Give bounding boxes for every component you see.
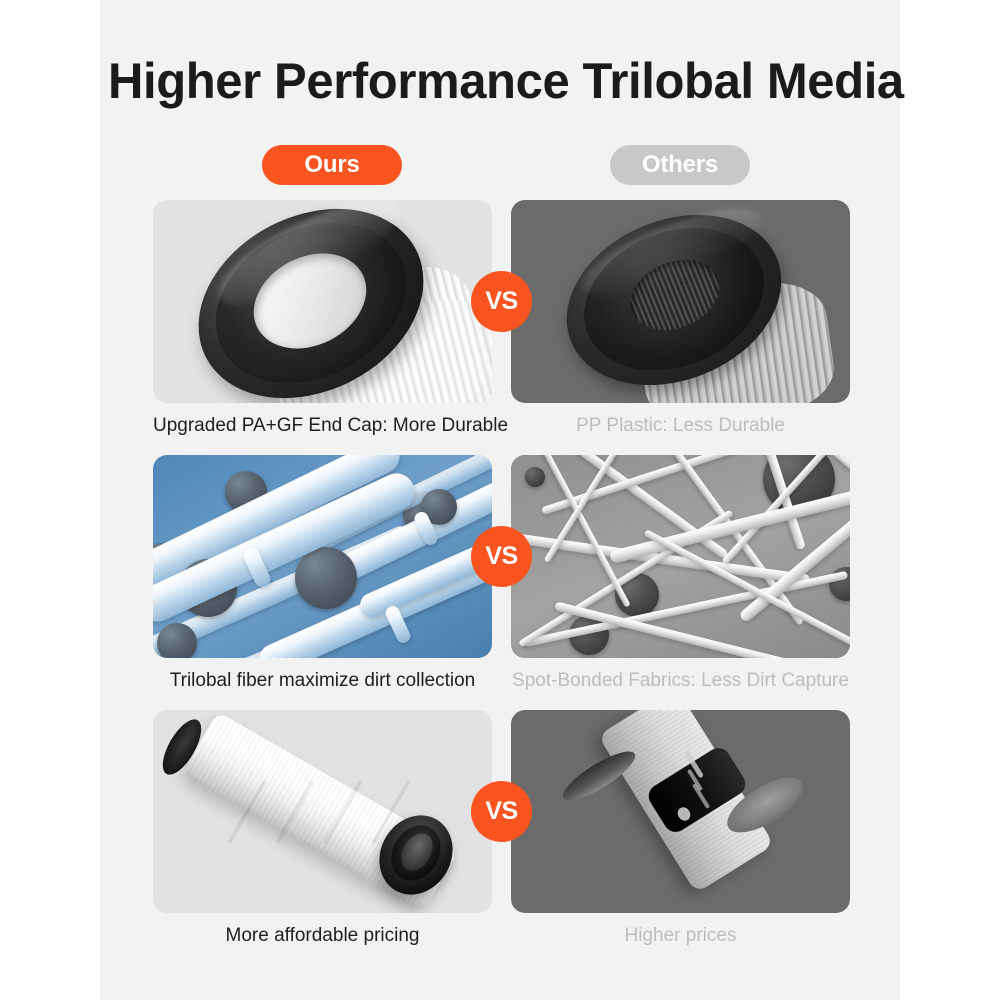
- ours-badge-label: Ours: [304, 151, 359, 179]
- ours-caption-2: Trilobal fiber maximize dirt collection: [153, 668, 492, 694]
- ours-badge: Ours: [262, 145, 402, 185]
- trilobal-fiber-render: [153, 455, 492, 658]
- vs-badge-label: VS: [485, 797, 517, 826]
- others-caption-3: Higher prices: [511, 923, 850, 949]
- pool-filter-cartridge-photo: [153, 710, 492, 913]
- others-badge: Others: [610, 145, 750, 185]
- spot-bonded-fabric-render: [511, 455, 850, 658]
- filter-end-cap-black-photo: [153, 200, 492, 403]
- others-caption-2: Spot-Bonded Fabrics: Less Dirt Capture: [511, 668, 850, 694]
- ours-image-panel-2: [153, 455, 492, 658]
- page-title: Higher Performance Trilobal Media: [108, 52, 892, 110]
- product-comparison-infographic: Higher Performance Trilobal Media Ours O…: [0, 0, 1000, 1000]
- filter-end-cap-pp-plastic-photo: [511, 200, 850, 403]
- vs-badge-3: VS: [471, 781, 532, 842]
- vs-badge-1: VS: [471, 271, 532, 332]
- ours-image-panel-3: [153, 710, 492, 913]
- ours-image-panel-1: [153, 200, 492, 403]
- ours-caption-3: More affordable pricing: [153, 923, 492, 949]
- others-image-panel-2: [511, 455, 850, 658]
- competitor-filter-cartridge-photo: [511, 710, 850, 913]
- vs-badge-label: VS: [485, 287, 517, 316]
- others-badge-label: Others: [642, 151, 718, 179]
- others-image-panel-1: [511, 200, 850, 403]
- vs-badge-label: VS: [485, 542, 517, 571]
- ours-caption-1: Upgraded PA+GF End Cap: More Durable: [153, 413, 492, 439]
- others-caption-1: PP Plastic: Less Durable: [511, 413, 850, 439]
- others-image-panel-3: [511, 710, 850, 913]
- vs-badge-2: VS: [471, 526, 532, 587]
